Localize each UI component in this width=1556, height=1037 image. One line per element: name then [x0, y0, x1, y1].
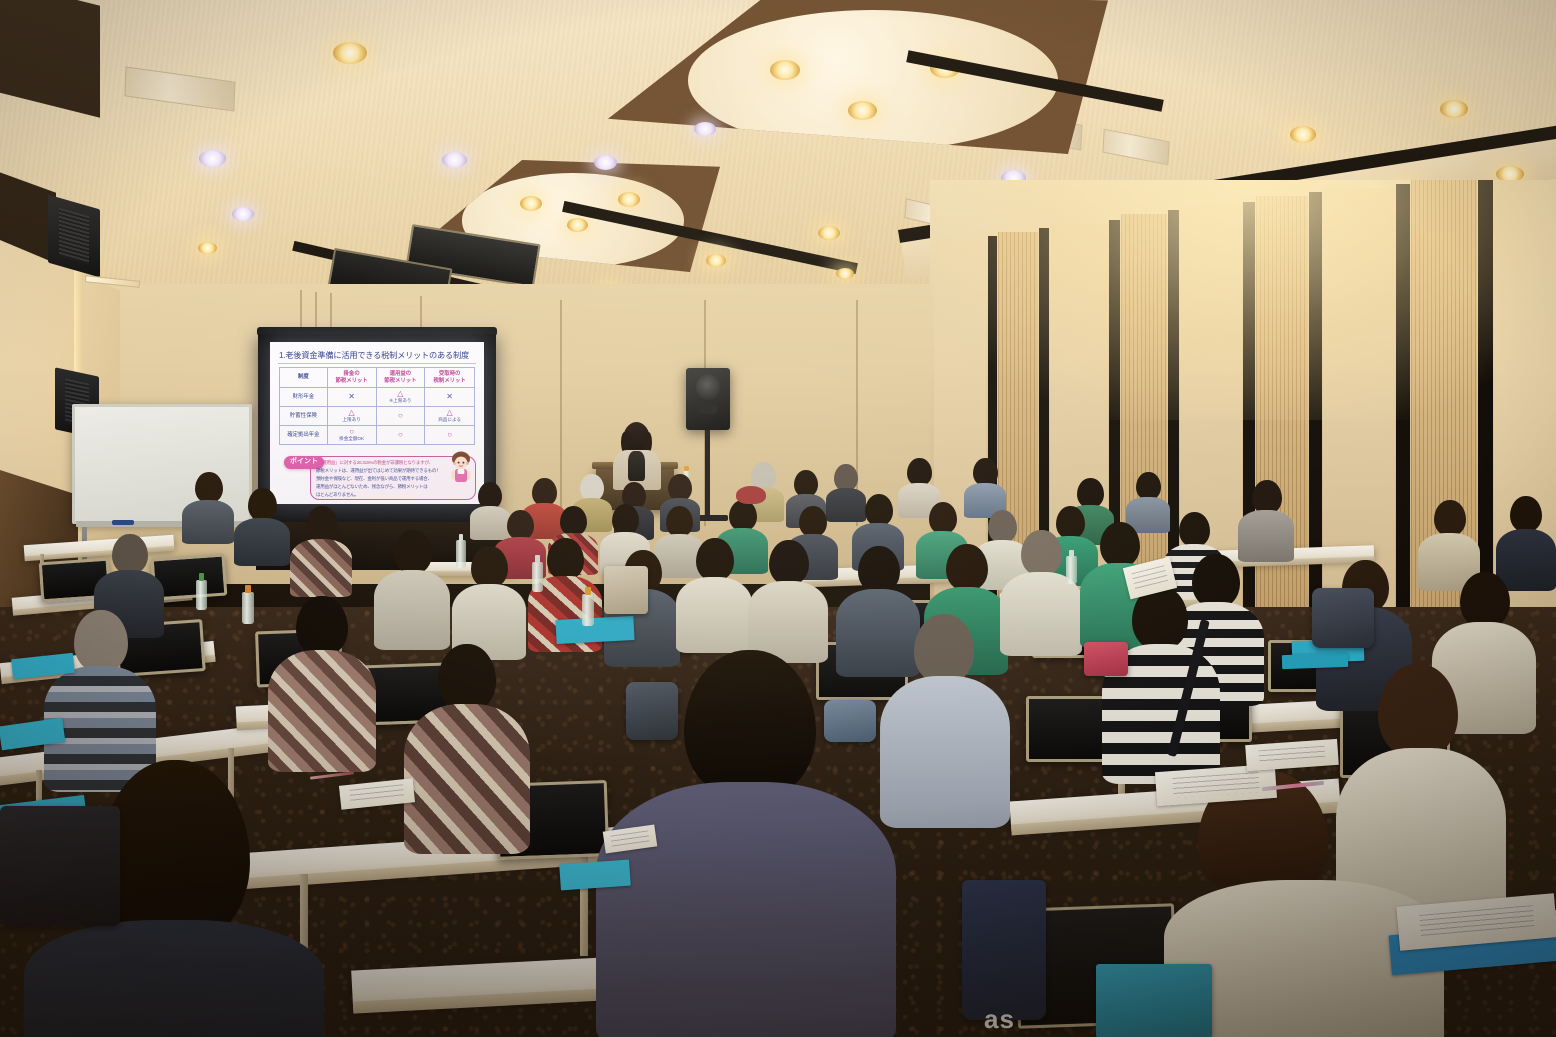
attendee-body: [676, 577, 752, 653]
attendee: [404, 644, 530, 840]
attendee: [182, 472, 234, 536]
folder-turquoise: [1282, 653, 1348, 669]
row2-c3: ○: [425, 426, 475, 445]
attendee-head: [1021, 530, 1062, 576]
attendee: [964, 458, 1006, 514]
bag-navy-adidas: [962, 880, 1046, 1020]
attendee: [1238, 480, 1294, 556]
attendee-head: [1460, 572, 1510, 628]
pa-speaker-cone-icon: [696, 374, 721, 400]
pa-speaker-horn-icon: [699, 404, 717, 414]
attendee-head: [507, 510, 534, 540]
ceiling-downlight-13: [836, 268, 854, 279]
ceiling-downlight-3: [232, 207, 254, 221]
row2-c2: ○: [376, 426, 425, 445]
attendee-head: [248, 488, 277, 521]
row1-label: 貯蓄性保険: [280, 407, 328, 426]
attendee-head: [1510, 496, 1542, 532]
attendee-head: [74, 610, 128, 672]
pa-speaker: [686, 368, 730, 430]
attendee-head: [532, 478, 557, 506]
row1-c2-mark: ○: [377, 412, 425, 420]
bottle-cap: [245, 585, 251, 593]
bag-denim: [824, 700, 876, 742]
attendee-head: [769, 540, 809, 585]
row0-label: 財形年金: [280, 388, 328, 407]
attendee-body: [234, 518, 290, 566]
right-wall-light-wash: [930, 180, 1556, 420]
water-bottle: [242, 592, 254, 624]
ceiling-downlight-1: [333, 42, 367, 64]
lectern-bottle-cap: [684, 466, 689, 471]
attendee-head: [865, 494, 893, 526]
attendee-head: [306, 506, 338, 542]
row2-c3-mark: ○: [425, 431, 474, 439]
table-row: 貯蓄性保険 △ 上限あり ○ △ 商品による: [280, 407, 475, 426]
attendee: [268, 596, 376, 758]
row0-c1: ✕: [327, 388, 376, 407]
folder-turquoise: [559, 860, 631, 891]
point-line-3: 運用益がほとんどないため、残念ながら、節税メリットは: [316, 484, 428, 490]
col2-line1: 運用益の: [390, 371, 412, 377]
row0-c1-mark: ✕: [328, 393, 376, 401]
pa-speaker-stand: [705, 430, 710, 518]
folder-turquoise: [555, 616, 634, 644]
bag-brand-text: as: [984, 1004, 1015, 1035]
attendee-head: [907, 458, 932, 486]
col3-line2: 税制メリット: [433, 378, 465, 384]
bottle-cap: [459, 534, 464, 541]
ceiling-downlight-panel2-c: [567, 218, 588, 232]
attendee-head: [684, 650, 816, 800]
attendee-head: [946, 544, 988, 591]
ceiling-downlight-4: [442, 152, 467, 168]
attendee-head: [799, 506, 827, 537]
attendee-head: [1434, 500, 1466, 536]
row2-c1: ○ 掛金全額OK: [327, 426, 376, 445]
attendee-body: [182, 500, 234, 544]
attendee-body: [404, 704, 530, 854]
slide-content: 1.老後資金準備に活用できる税制メリットのある制度 制度 掛金の 節税メリット …: [270, 342, 484, 504]
bottle-cap: [199, 573, 204, 580]
ceiling-downlight-9: [818, 226, 840, 240]
table-header-row: 制度 掛金の 節税メリット 運用益の 節税メリット 受取時の 税制メリット: [280, 368, 475, 388]
attendee-body: [1000, 572, 1082, 656]
row0-c2: △ ※上限あり: [376, 388, 425, 407]
bag-pink-pouch: [1084, 642, 1128, 676]
attendee-head: [580, 474, 604, 501]
attendee-head: [560, 506, 587, 536]
slide-title: 1.老後資金準備に活用できる税制メリットのある制度: [279, 349, 469, 361]
slide-title-rule: [278, 363, 476, 364]
water-bottle: [532, 562, 543, 592]
point-character-svg: [446, 450, 476, 486]
bottle-cap: [535, 555, 540, 562]
ceiling-downlight-15: [1440, 100, 1468, 118]
row0-c3: ✕: [425, 388, 475, 407]
attendee-body: [374, 570, 450, 650]
row2-label: 確定拠出年金: [280, 426, 328, 445]
row1-c1-mark: △: [328, 409, 376, 417]
col3-line1: 受取時の: [439, 371, 461, 377]
attendee: [1000, 530, 1082, 644]
row0-c3-mark: ✕: [425, 393, 474, 401]
attendee: [374, 530, 450, 640]
slide-table: 制度 掛金の 節税メリット 運用益の 節税メリット 受取時の 税制メリット 財形…: [279, 367, 475, 445]
bag-shoulder-grey: [626, 682, 678, 740]
attendee-head: [1179, 512, 1210, 547]
attendee-head: [834, 464, 858, 491]
seminar-room-photo: 1.老後資金準備に活用できる税制メリットのある制度 制度 掛金の 節税メリット …: [0, 0, 1556, 1037]
point-character-icon: [446, 450, 476, 486]
attendee-head: [438, 644, 496, 712]
attendee-head: [1100, 522, 1140, 567]
ceiling-downlight-panel1-a: [770, 60, 800, 80]
ceiling-downlight-2: [199, 150, 226, 167]
table-header-cell-3: 受取時の 税制メリット: [425, 368, 475, 388]
attendee-head: [296, 596, 348, 656]
row1-c3-note: 商品による: [425, 417, 474, 423]
ceiling-downlight-panel1-c: [848, 101, 877, 120]
attendee: [1102, 586, 1220, 770]
attendee: [44, 610, 156, 778]
water-bottle: [1066, 556, 1077, 584]
point-line-4: ほとんどありません。: [316, 492, 359, 498]
table-header-cell-1: 掛金の 節税メリット: [327, 368, 376, 388]
table-header-cell-2: 運用益の 節税メリット: [376, 368, 425, 388]
col1-line2: 節税メリット: [335, 378, 367, 384]
attendee-head: [1252, 480, 1282, 514]
attendee-head: [112, 534, 148, 574]
whiteboard-marker-tray-item: [112, 520, 134, 525]
attendee-body: [596, 782, 896, 1037]
attendee-body: [880, 676, 1010, 828]
point-line-1: 節税メリットは、運用益が出てはじめて効果が期待できるもの！: [316, 468, 441, 474]
bag-black-tote: [0, 806, 120, 926]
attendee-head: [195, 472, 223, 503]
attendee-head: [471, 546, 508, 588]
attendee-head: [973, 458, 998, 486]
table-row: 財形年金 ✕ △ ※上限あり ✕: [280, 388, 475, 407]
attendee-head: [858, 546, 900, 593]
ceiling-downlight-12: [198, 242, 217, 254]
ceiling-downlight-5: [594, 155, 617, 170]
ceiling-downlight-14: [1290, 126, 1316, 143]
ceiling-downlight-panel2-b: [618, 192, 640, 207]
attendee-head: [100, 760, 250, 946]
bag-backpack-grey: [1312, 588, 1374, 648]
attendee-body: [268, 650, 376, 772]
attendee-body: [290, 539, 352, 597]
row2-c1-note: 掛金全額OK: [328, 436, 376, 442]
attendee: [736, 486, 766, 512]
attendee-head: [794, 470, 818, 497]
attendee-head: [929, 502, 957, 534]
attendee-head: [1077, 478, 1104, 508]
row1-c1: △ 上限あり: [327, 407, 376, 426]
table-header-cell-0: 制度: [280, 368, 328, 388]
bag-teal: [1096, 964, 1212, 1037]
attendee: [234, 488, 290, 558]
row0-c2-mark: △: [377, 390, 425, 398]
attendee: [290, 506, 352, 588]
attendee-head: [696, 538, 734, 581]
wall-speaker-icon: [48, 195, 100, 278]
attendee-head: [478, 482, 502, 509]
col1-line1: 掛金の: [344, 371, 360, 377]
attendee-head: [666, 506, 693, 537]
row2-c1-mark: ○: [328, 428, 376, 436]
row1-c3: △ 商品による: [425, 407, 475, 426]
ceiling-downlight-10: [706, 254, 726, 267]
attendee-beret-icon: [736, 486, 766, 504]
attendee-head: [394, 530, 432, 574]
attendee-head: [1378, 664, 1458, 758]
bottle-cap: [1069, 550, 1074, 557]
water-bottle: [196, 580, 207, 610]
bag-beige: [604, 566, 648, 614]
presenter-top: [628, 451, 645, 481]
attendee-head: [1136, 472, 1161, 500]
point-line-2: 預貯金や保険など、現在、金利が低い商品で運用する場合、: [316, 476, 432, 482]
attendee-head: [914, 614, 974, 684]
water-bottle: [456, 540, 466, 568]
row1-c1-note: 上限あり: [328, 417, 376, 423]
attendee-head: [668, 474, 692, 501]
table-row: 確定拠出年金 ○ 掛金全額OK ○ ○: [280, 426, 475, 445]
water-bottle: [582, 594, 594, 626]
attendee-head: [612, 504, 639, 535]
attendee: [676, 538, 752, 644]
col2-line2: 節税メリット: [384, 378, 416, 384]
row1-c2: ○: [376, 407, 425, 426]
point-line-0: 「運用益」に対する20.315%の税金が非課税となりますが、: [318, 460, 433, 466]
bottle-cap: [585, 587, 591, 595]
row1-c3-mark: △: [425, 409, 474, 417]
attendee-head: [547, 538, 584, 580]
ceiling-downlight-panel2-a: [520, 196, 542, 211]
row0-c2-note: ※上限あり: [377, 398, 425, 404]
attendee-body: [24, 920, 324, 1037]
ceiling-downlight-6: [694, 122, 716, 136]
attendee: [880, 614, 1010, 814]
attendee: [748, 540, 828, 652]
row2-c2-mark: ○: [377, 431, 425, 439]
